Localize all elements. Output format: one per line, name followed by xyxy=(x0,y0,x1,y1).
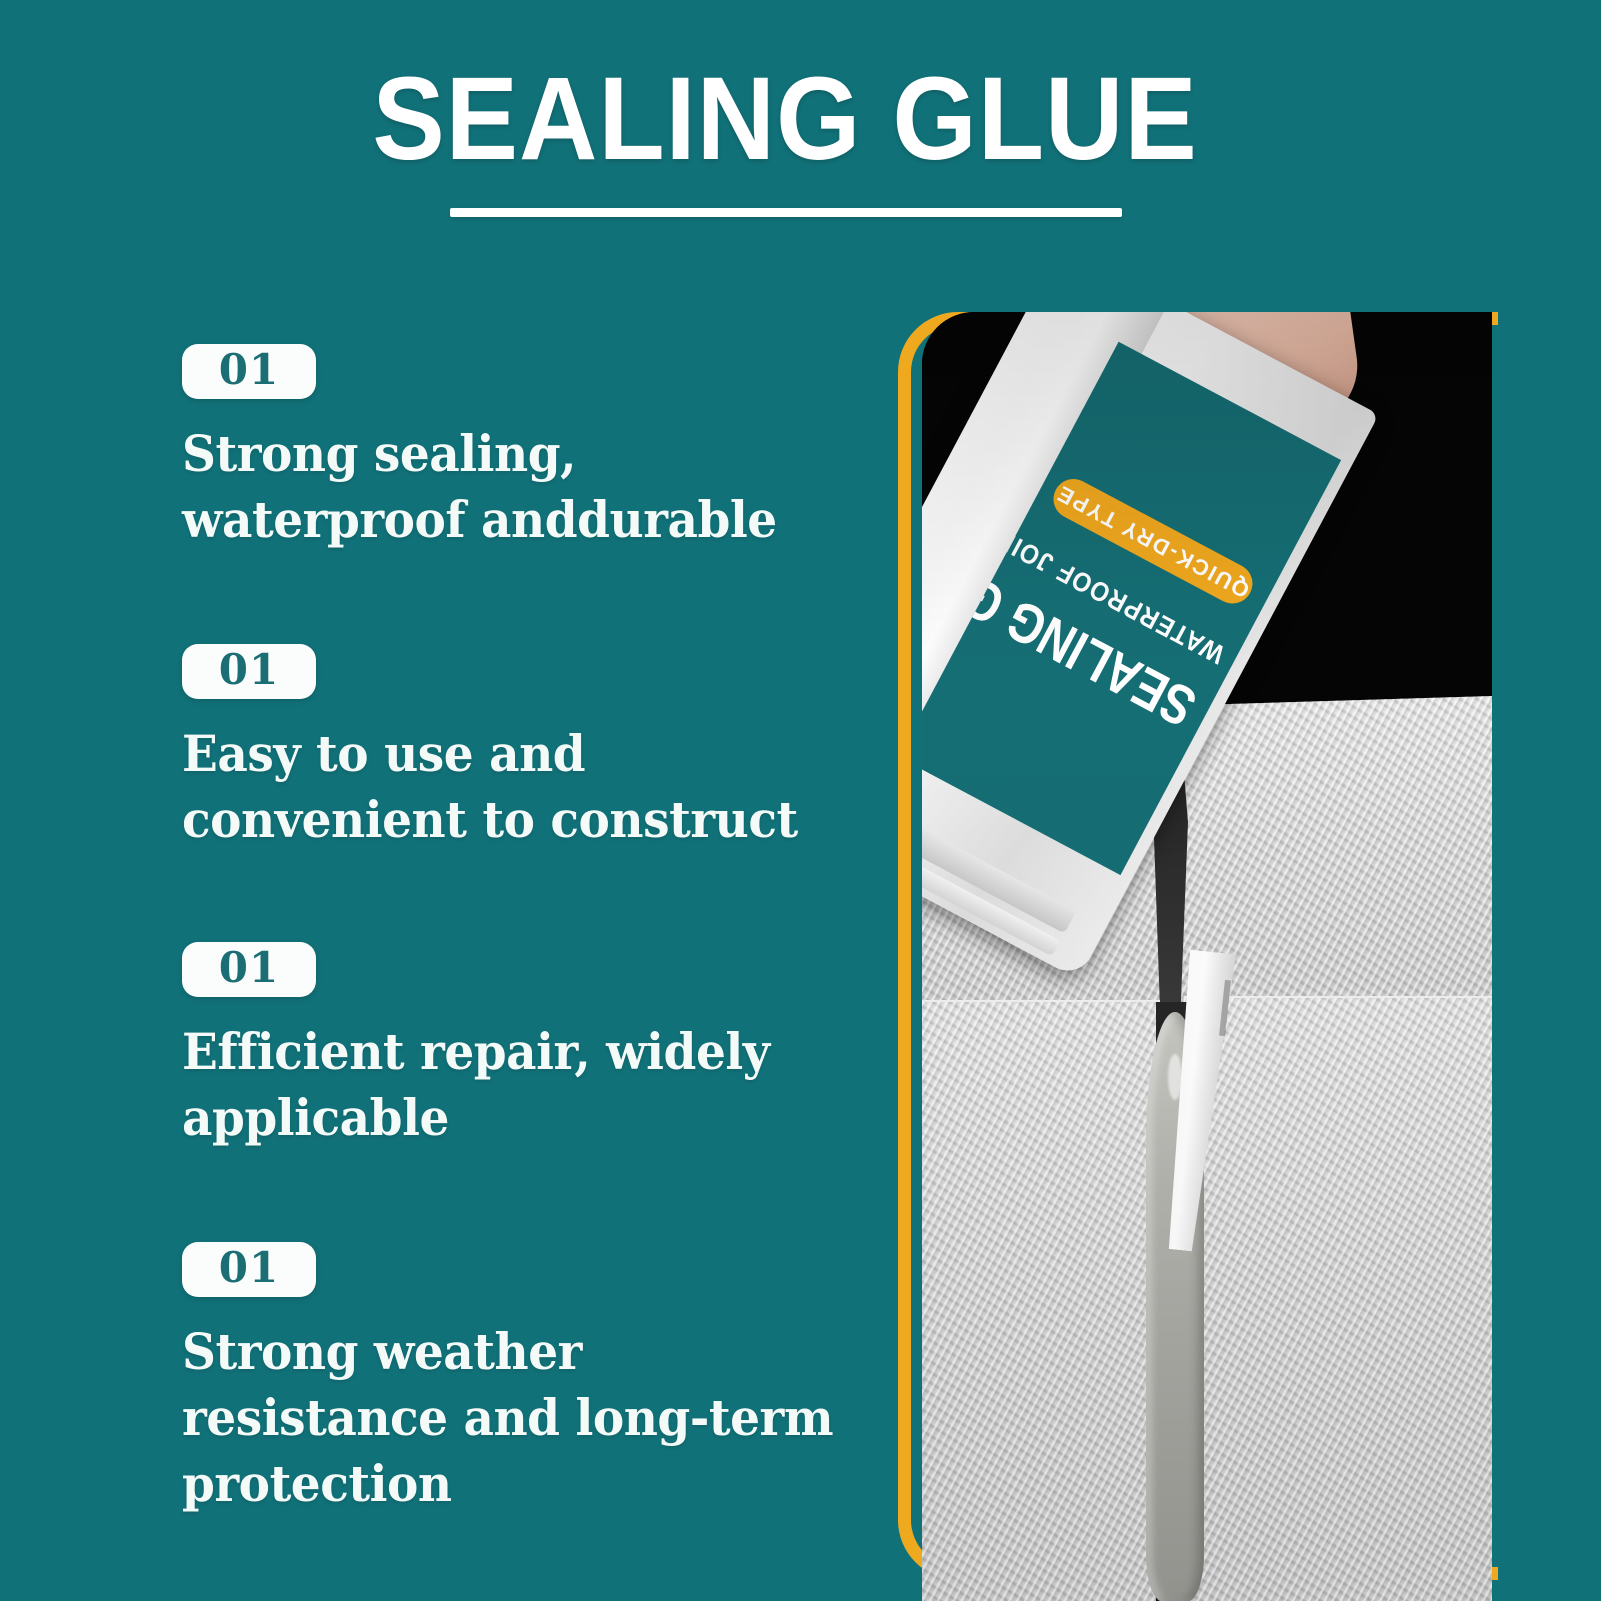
title-underline xyxy=(450,208,1122,217)
feature-badge: 01 xyxy=(182,344,316,399)
feature-text: Strong sealing, waterproof anddurable xyxy=(182,421,840,553)
concrete-slab-front-left xyxy=(922,1002,1160,1601)
sealant-highlight xyxy=(1168,1054,1182,1100)
infographic-canvas: SEALING GLUE 01 Strong sealing, waterpro… xyxy=(0,0,1601,1601)
page-title: SEALING GLUE xyxy=(63,58,1507,182)
feature-text: Easy to use and convenient to construct xyxy=(182,721,840,853)
product-photo: SEALING GLUE WATERPROOF JOINT QUICK-DRY … xyxy=(922,312,1492,1601)
feature-badge: 01 xyxy=(182,1242,316,1297)
feature-item: 01 Strong weather resistance and long-te… xyxy=(182,1242,902,1517)
feature-item: 01 Easy to use and convenient to constru… xyxy=(182,644,902,853)
feature-item: 01 Strong sealing, waterproof anddurable xyxy=(182,344,902,553)
concrete-slab-front-right xyxy=(1184,998,1492,1601)
feature-badge: 01 xyxy=(182,942,316,997)
feature-item: 01 Efficient repair, widely applicable xyxy=(182,942,902,1151)
feature-text: Efficient repair, widely applicable xyxy=(182,1019,840,1151)
feature-text: Strong weather resistance and long-term … xyxy=(182,1319,840,1517)
feature-badge: 01 xyxy=(182,644,316,699)
